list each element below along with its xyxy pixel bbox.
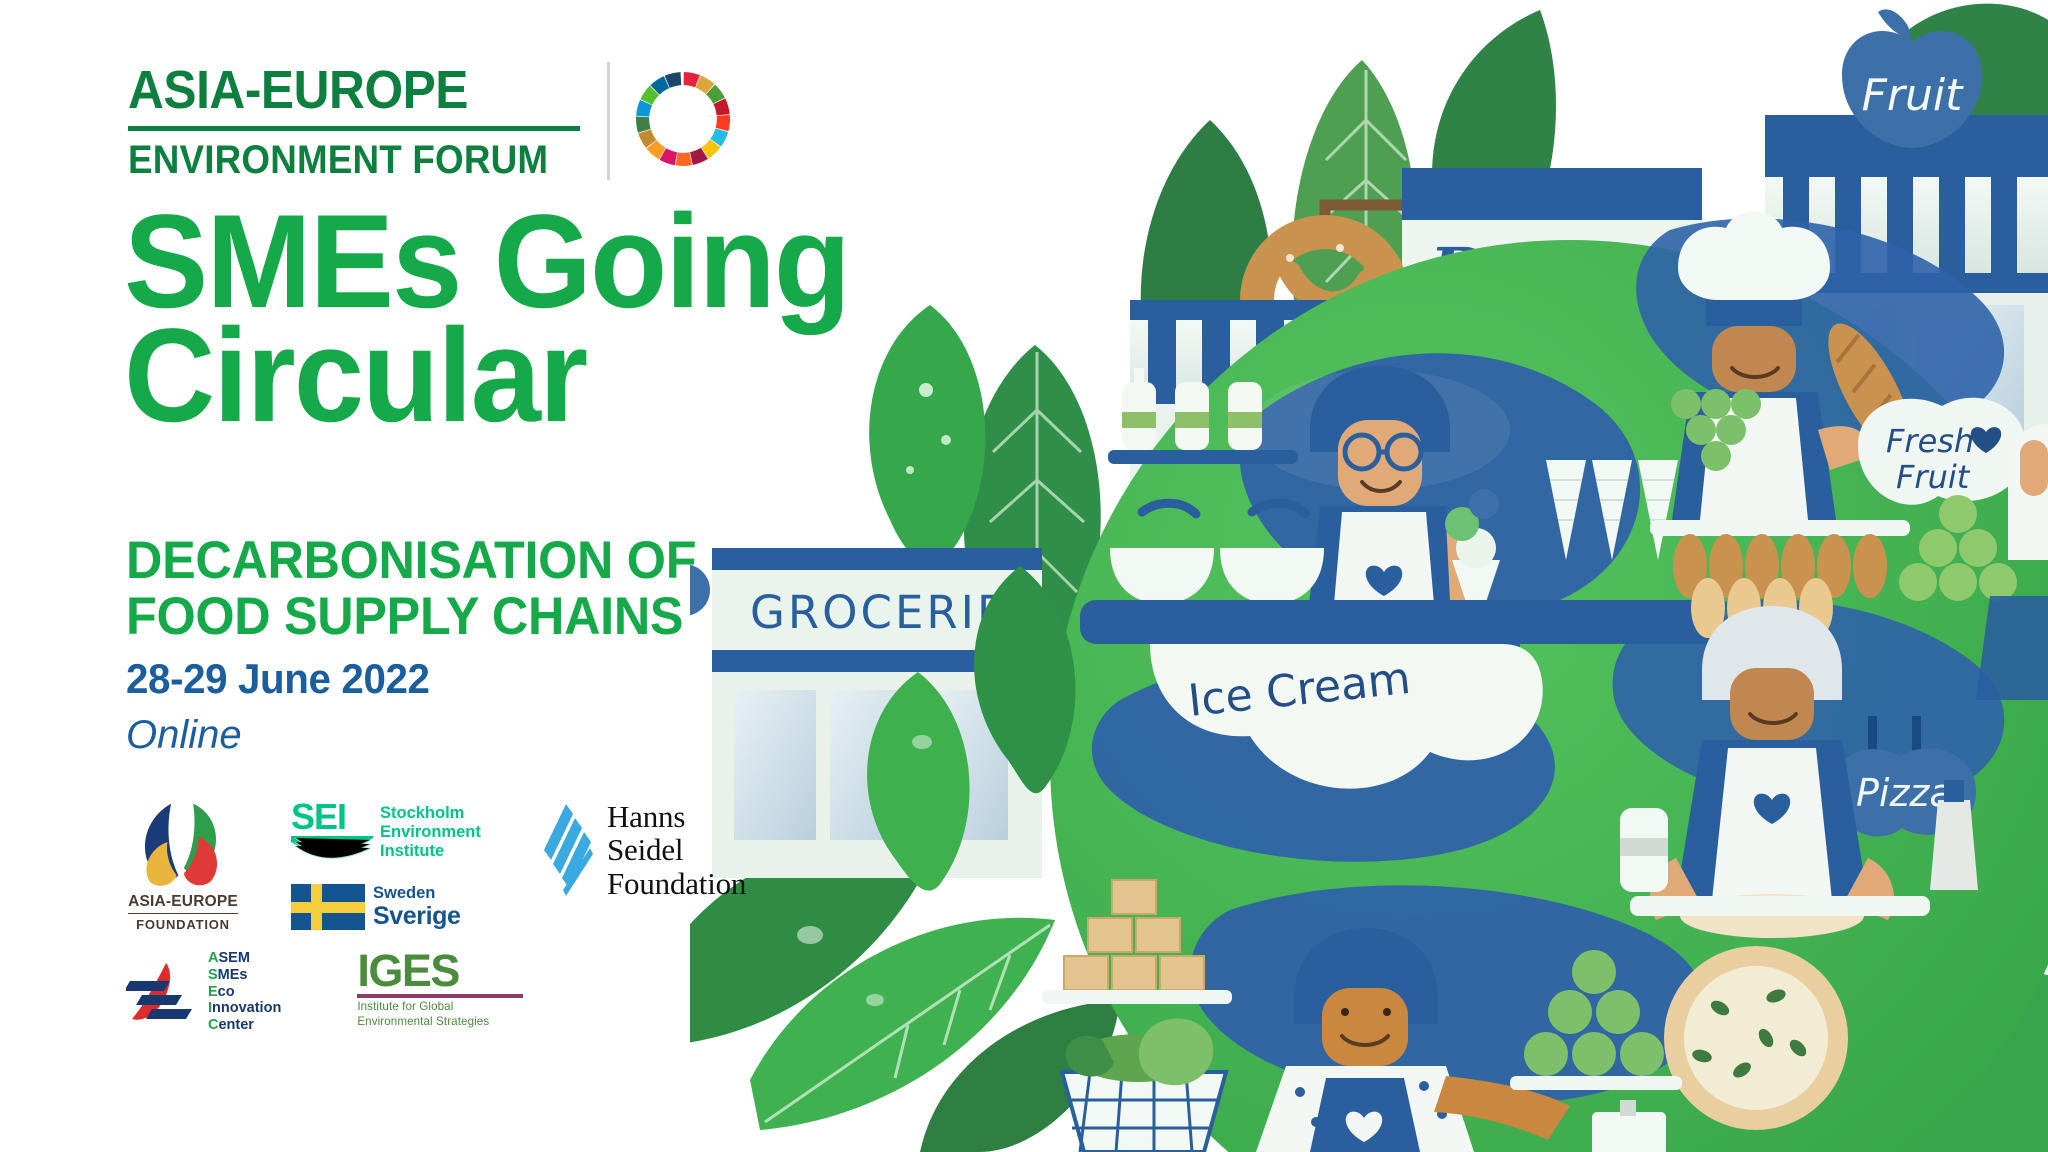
fruit-sign-text: Fruit (1862, 70, 1965, 121)
text-panel: ASIA-EUROPE ENVIRONMENT FORUM (0, 0, 920, 1152)
sei-country-en: Sweden (373, 885, 461, 902)
asef-sub: FOUNDATION (136, 917, 230, 932)
produce-basket (1062, 1018, 1226, 1152)
hsf-line-1: Hanns (607, 800, 746, 833)
sei-line-2: Environment (380, 823, 481, 842)
sei-line-3: Institute (380, 842, 481, 861)
partner-logos-row-1: ASIA-EUROPE FOUNDATION SEI (118, 800, 746, 932)
sei-line-1: Stockholm (380, 804, 481, 823)
iges-tagline-1: Institute for Global (357, 1000, 523, 1013)
sdg-wheel-icon (636, 72, 730, 171)
subtitle-line-2: FOOD SUPPLY CHAINS (126, 589, 829, 645)
forum-line-2: ENVIRONMENT FORUM (128, 140, 548, 180)
asemic-line-1-rest: SEM (218, 950, 249, 966)
hsf-line-2: Seidel (607, 833, 746, 866)
page-subtitle: DECARBONISATION OF FOOD SUPPLY CHAINS (126, 533, 829, 645)
sweden-flag-icon (291, 884, 365, 930)
asemic-line-2-rest: MEs (218, 967, 248, 983)
sei-acronym: SEI (291, 800, 373, 834)
forum-wordmark: ASIA-EUROPE ENVIRONMENT FORUM (128, 63, 585, 180)
event-banner: Fruit Bakery (0, 0, 2048, 1152)
lockup-divider (607, 62, 610, 180)
logo-asem-smes-eco-innovation-center: ASEM SMEs Eco Innovation Center (126, 950, 281, 1034)
asef-name: ASIA-EUROPE (128, 893, 238, 914)
sei-country-sv: Sverige (373, 903, 461, 929)
hsf-line-3: Foundation (607, 867, 746, 900)
sei-swoosh-icon (291, 836, 373, 870)
asemic-line-4-rest: nnovation (212, 1000, 281, 1016)
asemic-line-3-rest: co (218, 984, 235, 1000)
headline-line-2: Circular (124, 319, 846, 433)
forum-line-1: ASIA-EUROPE (128, 63, 548, 117)
fresh-fruit-line2: Fruit (1896, 458, 1971, 496)
fresh-fruit-line1: Fresh (1886, 422, 1974, 460)
asef-petals-icon (132, 800, 234, 888)
hsf-diamond-icon (539, 802, 593, 898)
iges-tagline-2: Environmental Strategies (357, 1015, 523, 1028)
fresh-fruit-sign: Fresh Fruit (1858, 398, 2026, 505)
event-date: 28-29 June 2022 (126, 655, 430, 703)
asemic-arrow-icon (126, 961, 200, 1023)
iges-acronym: IGES (357, 950, 523, 993)
asemic-line-5-rest: enter (218, 1017, 253, 1033)
logo-stockholm-environment-institute: SEI Stockholm Environment (291, 800, 491, 930)
forum-lockup: ASIA-EUROPE ENVIRONMENT FORUM (128, 62, 730, 180)
partner-logos-row-2: ASEM SMEs Eco Innovation Center IGES Ins… (126, 950, 523, 1034)
forum-rule (128, 126, 580, 131)
page-title: SMEs Going Circular (124, 205, 846, 434)
logo-hanns-seidel-foundation: Hanns Seidel Foundation (539, 800, 746, 900)
logo-iges: IGES Institute for Global Environmental … (357, 950, 523, 1028)
subtitle-line-1: DECARBONISATION OF (126, 533, 829, 589)
logo-asia-europe-foundation: ASIA-EUROPE FOUNDATION (118, 800, 248, 932)
event-mode: Online (126, 713, 242, 758)
